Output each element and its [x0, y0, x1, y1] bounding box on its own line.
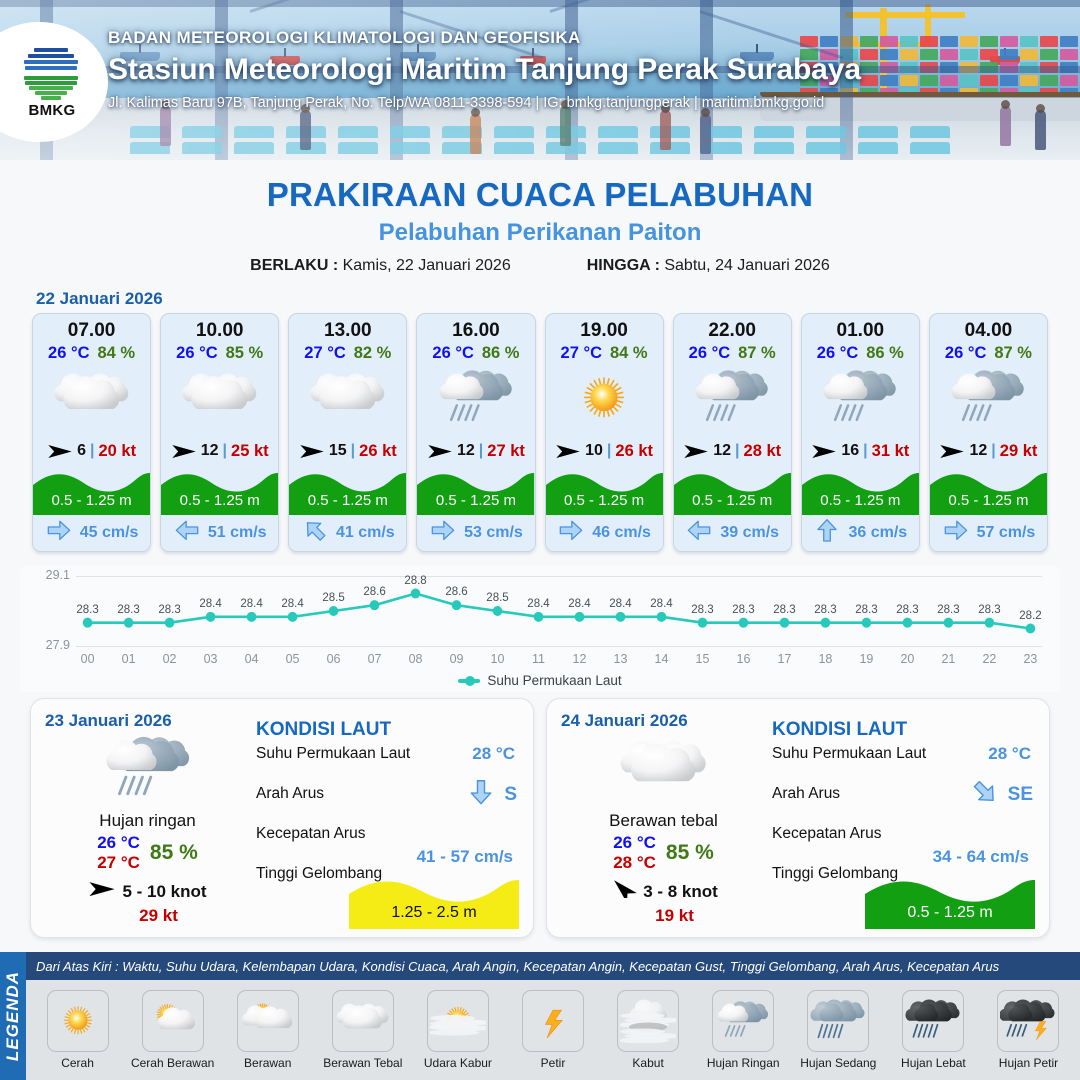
sst-chart: 29.1 27.9 28.328.328.328.428.428.428.528…: [20, 566, 1060, 692]
sst-point-label: 28.6: [445, 586, 467, 598]
title-block: PRAKIRAAN CUACA PELABUHAN Pelabuhan Peri…: [0, 176, 1080, 275]
sea-current-dir-row: Arah ArusS: [256, 781, 519, 821]
sst-x-tick: 20: [900, 652, 914, 666]
sea-current-dir-arrow: [466, 779, 496, 810]
card-current-speed: 36 cm/s: [848, 524, 907, 542]
card-time: 13.00: [289, 314, 406, 342]
current-direction-arrow-N: [813, 518, 841, 543]
weather-icon-hujan-ringan: [692, 367, 772, 431]
card-temperature: 27 °C: [304, 344, 345, 363]
hourly-card[interactable]: 22.0026 °C87 %12|28 kt0.5 - 1.25 m39 cm/…: [673, 313, 792, 552]
daily-left: 24 Januari 2026Berawan tebal26 °C28 °C85…: [561, 711, 766, 927]
card-temp-humidity: 26 °C87 %: [674, 344, 791, 363]
current-direction-arrow-E: [942, 518, 970, 543]
legend-icon-hujan-lebat: [902, 990, 964, 1052]
card-wind-separator: |: [479, 442, 483, 460]
legend-item: Petir: [505, 990, 600, 1070]
legend-icon-kabut: [617, 990, 679, 1052]
legend-item: Hujan Lebat: [886, 990, 981, 1070]
card-current-speed: 41 cm/s: [336, 524, 395, 542]
daily-gust: 29 kt: [45, 906, 250, 926]
card-wind-row: 10|26 kt: [546, 435, 663, 467]
sea-current-speed-label: Kecepatan Arus: [772, 825, 881, 843]
legend-item: Udara Kabur: [410, 990, 505, 1070]
daily-sea-conditions: KONDISI LAUTSuhu Permukaan Laut28 °CArah…: [766, 711, 1035, 927]
card-wind-separator: |: [991, 442, 995, 460]
station-name: Stasiun Meteorologi Maritim Tanjung Pera…: [108, 53, 1048, 87]
daily-temp-col: 26 °C28 °C: [613, 833, 656, 872]
sst-x-tick: 06: [327, 652, 341, 666]
valid-from: BERLAKU : Kamis, 22 Januari 2026: [250, 257, 511, 275]
legend-item-label: Udara Kabur: [424, 1056, 492, 1070]
daily-condition: Berawan tebal: [561, 811, 766, 831]
sea-current-speed-row: Kecepatan Arus34 - 64 cm/s: [772, 821, 1035, 861]
valid-from-value: Kamis, 22 Januari 2026: [343, 257, 511, 274]
sst-x-tick: 13: [614, 652, 628, 666]
card-current-row: 51 cm/s: [161, 515, 278, 551]
card-wind-speed: 12: [201, 442, 219, 460]
card-temp-humidity: 26 °C86 %: [417, 344, 534, 363]
sea-current-dir-wrap: S: [466, 779, 517, 810]
current-direction-arrow-E: [557, 518, 585, 543]
page-header: BMKG BADAN METEOROLOGI KLIMATOLOGI DAN G…: [0, 0, 1080, 160]
card-wave-height: 0.5 - 1.25 m: [930, 467, 1047, 515]
card-wave-height: 0.5 - 1.25 m: [161, 467, 278, 515]
card-wind-row: 6|20 kt: [33, 435, 150, 467]
card-wind-row: 12|28 kt: [674, 435, 791, 467]
logo-green-stripe: [35, 91, 67, 95]
card-wind-separator: |: [735, 442, 739, 460]
card-weather-icon: [674, 363, 791, 435]
legend-item: Cerah: [30, 990, 125, 1070]
sst-point-label: 28.3: [691, 604, 713, 616]
sea-sst-row: Suhu Permukaan Laut28 °C: [772, 741, 1035, 781]
sea-current-speed-row: Kecepatan Arus41 - 57 cm/s: [256, 821, 519, 861]
current-direction-arrow-SE: [970, 779, 1000, 805]
card-wind-arrow: [555, 443, 581, 460]
card-wave-height: 0.5 - 1.25 m: [417, 467, 534, 515]
sst-x-tick: 03: [204, 652, 218, 666]
sst-point-label: 28.3: [76, 604, 98, 616]
wind-direction-arrow-E: [811, 443, 837, 460]
card-humidity: 85 %: [226, 344, 264, 363]
valid-until: HINGGA : Sabtu, 24 Januari 2026: [587, 257, 830, 275]
card-wind-arrow: [939, 443, 965, 460]
legend-item-label: Kabut: [632, 1056, 663, 1070]
current-direction-arrow-W: [173, 518, 201, 543]
sst-x-tick: 12: [573, 652, 587, 666]
card-time: 04.00: [930, 314, 1047, 342]
card-wind-speed: 12: [713, 442, 731, 460]
legend-item-label: Hujan Petir: [999, 1056, 1058, 1070]
daily-wind-speed: 5 - 10 knot: [122, 882, 206, 902]
sst-point-label: 28.4: [568, 598, 590, 610]
weather-icon-berawan-tebal: [180, 367, 260, 431]
card-gust: 31 kt: [872, 442, 910, 461]
sea-current-speed-label: Kecepatan Arus: [256, 825, 365, 843]
sst-point-label: 28.3: [117, 604, 139, 616]
card-time: 22.00: [674, 314, 791, 342]
card-wind-speed: 15: [329, 442, 347, 460]
card-weather-icon: [33, 363, 150, 435]
sst-x-tick: 21: [941, 652, 955, 666]
current-direction-arrow-NW: [301, 518, 329, 543]
logo-blue-stripe: [25, 66, 77, 70]
wind-direction-arrow-NW: [609, 880, 637, 898]
sst-point-label: 28.4: [281, 598, 303, 610]
bmkg-logo-mark: [23, 45, 79, 99]
card-wind-arrow: [427, 443, 453, 460]
card-current-speed: 51 cm/s: [208, 524, 267, 542]
legend-icon-berawan-tebal: [332, 990, 394, 1052]
sea-conditions-title: KONDISI LAUT: [772, 719, 1035, 741]
card-wind-row: 16|31 kt: [802, 435, 919, 467]
wind-direction-arrow-E: [88, 880, 116, 898]
card-wave-text: 0.5 - 1.25 m: [289, 492, 406, 509]
sst-x-tick: 18: [818, 652, 832, 666]
sst-x-tick: 19: [859, 652, 873, 666]
legend-item: Berawan Tebal: [315, 990, 410, 1070]
card-weather-icon: [161, 363, 278, 435]
card-temperature: 26 °C: [48, 344, 89, 363]
card-wave-height: 0.5 - 1.25 m: [802, 467, 919, 515]
bmkg-logo-text: BMKG: [26, 102, 75, 119]
weather-icon-hujan-ringan: [715, 999, 771, 1044]
sst-point-label: 28.4: [609, 598, 631, 610]
card-wave-text: 0.5 - 1.25 m: [674, 492, 791, 509]
daily-humidity: 85 %: [666, 841, 714, 865]
card-temperature: 26 °C: [817, 344, 858, 363]
card-weather-icon: [802, 363, 919, 435]
card-wind-separator: |: [863, 442, 867, 460]
sst-x-tick: 11: [532, 652, 545, 666]
card-temperature: 26 °C: [945, 344, 986, 363]
card-temperature: 26 °C: [689, 344, 730, 363]
sst-point-label: 28.3: [978, 604, 1000, 616]
daily-temp-max: 28 °C: [613, 853, 656, 873]
page-subtitle: Pelabuhan Perikanan Paiton: [0, 219, 1080, 247]
sst-point-label: 28.4: [650, 598, 672, 610]
logo-blue-stripe: [24, 60, 78, 64]
daily-temp-row: 26 °C27 °C85 %: [45, 833, 250, 872]
sst-point-label: 28.6: [363, 586, 385, 598]
card-wind-row: 12|29 kt: [930, 435, 1047, 467]
sea-current-dir-value: SE: [1008, 784, 1033, 806]
card-wind-speed: 12: [969, 442, 987, 460]
card-current-arrow: [429, 518, 457, 548]
sst-x-tick: 23: [1023, 652, 1037, 666]
card-current-row: 36 cm/s: [802, 515, 919, 551]
daily-sea-conditions: KONDISI LAUTSuhu Permukaan Laut28 °CArah…: [250, 711, 519, 927]
wind-direction-arrow-E: [683, 443, 709, 460]
card-weather-icon: [417, 363, 534, 435]
sst-x-tick: 04: [245, 652, 259, 666]
daily-gust: 19 kt: [561, 906, 766, 926]
card-wave-height: 0.5 - 1.25 m: [546, 467, 663, 515]
legend-line-swatch: [458, 679, 480, 683]
card-wind-speed: 16: [841, 442, 859, 460]
daily-date: 24 Januari 2026: [561, 711, 766, 731]
daily-temp-max: 27 °C: [97, 853, 140, 873]
card-wind-speed: 6: [77, 442, 86, 460]
legend-note: Dari Atas Kiri : Waktu, Suhu Udara, Kele…: [26, 952, 1080, 980]
card-gust: 29 kt: [1000, 442, 1038, 461]
card-time: 16.00: [417, 314, 534, 342]
current-direction-arrow-S: [466, 779, 496, 805]
sst-point-label: 28.3: [896, 604, 918, 616]
card-wind-separator: |: [90, 442, 94, 460]
weather-icon-berawan-tebal: [52, 367, 132, 431]
sea-sst-label: Suhu Permukaan Laut: [256, 745, 410, 763]
sst-x-tick: 15: [696, 652, 710, 666]
legend-icon-hujan-ringan: [712, 990, 774, 1052]
sst-x-tick: 00: [81, 652, 95, 666]
hourly-card[interactable]: 16.0026 °C86 %12|27 kt0.5 - 1.25 m53 cm/…: [416, 313, 535, 552]
weather-icon-udara-kabur: [430, 999, 486, 1044]
sea-current-dir-label: Arah Arus: [772, 785, 840, 803]
card-time: 07.00: [33, 314, 150, 342]
sst-point-label: 28.3: [937, 604, 959, 616]
logo-green-stripe: [29, 86, 73, 90]
sst-chart-legend: Suhu Permukaan Laut: [30, 673, 1050, 688]
card-current-row: 46 cm/s: [546, 515, 663, 551]
card-temp-humidity: 26 °C87 %: [930, 344, 1047, 363]
hourly-card[interactable]: 19.0027 °C84 %10|26 kt0.5 - 1.25 m46 cm/…: [545, 313, 664, 552]
station-address: Jl. Kalimas Baru 97B, Tanjung Perak, No.…: [108, 95, 1048, 111]
card-wave-text: 0.5 - 1.25 m: [802, 492, 919, 509]
legend-icon-udara-kabur: [427, 990, 489, 1052]
card-temperature: 26 °C: [176, 344, 217, 363]
daily-forecast-panels: 23 Januari 2026Hujan ringan26 °C27 °C85 …: [0, 692, 1080, 938]
legend-icon-row: CerahCerah BerawanBerawanBerawan TebalUd…: [26, 980, 1080, 1080]
weather-icon-cerah: [50, 999, 106, 1044]
header-text-block: BADAN METEOROLOGI KLIMATOLOGI DAN GEOFIS…: [108, 28, 1048, 111]
hourly-card[interactable]: 01.0026 °C86 %16|31 kt0.5 - 1.25 m36 cm/…: [801, 313, 920, 552]
sea-sst-value: 28 °C: [988, 744, 1031, 764]
card-current-arrow: [45, 518, 73, 548]
sst-point-label: 28.3: [732, 604, 754, 616]
weather-icon-hujan-ringan: [820, 367, 900, 431]
card-humidity: 84 %: [610, 344, 648, 363]
card-current-speed: 46 cm/s: [592, 524, 651, 542]
card-wave-text: 0.5 - 1.25 m: [930, 492, 1047, 509]
sea-current-dir-arrow: [970, 779, 1000, 810]
sst-point-label: 28.5: [486, 592, 508, 604]
daily-wind-row: 3 - 8 knot: [561, 880, 766, 903]
legend-item-label: Cerah Berawan: [131, 1056, 214, 1070]
daily-panel[interactable]: 24 Januari 2026Berawan tebal26 °C28 °C85…: [546, 698, 1050, 938]
daily-left: 23 Januari 2026Hujan ringan26 °C27 °C85 …: [45, 711, 250, 927]
card-wind-row: 12|27 kt: [417, 435, 534, 467]
legend-footer: LEGENDA Dari Atas Kiri : Waktu, Suhu Uda…: [0, 952, 1080, 1080]
sea-wave-badge: 0.5 - 1.25 m: [865, 873, 1035, 929]
card-current-arrow: [685, 518, 713, 548]
card-current-row: 39 cm/s: [674, 515, 791, 551]
card-current-row: 57 cm/s: [930, 515, 1047, 551]
weather-icon-berawan: [240, 999, 296, 1044]
card-wind-separator: |: [351, 442, 355, 460]
y-tick-max: 29.1: [32, 568, 70, 582]
sea-wave-badge: 1.25 - 2.5 m: [349, 873, 519, 929]
sst-point-label: 28.4: [527, 598, 549, 610]
daily-temp-min: 26 °C: [97, 833, 140, 853]
logo-divider: [23, 72, 79, 75]
card-temp-humidity: 26 °C86 %: [802, 344, 919, 363]
legend-icon-hujan-petir: [997, 990, 1059, 1052]
legend-item: Hujan Ringan: [696, 990, 791, 1070]
hourly-card[interactable]: 10.0026 °C85 %12|25 kt0.5 - 1.25 m51 cm/…: [160, 313, 279, 552]
daily-wind-speed: 3 - 8 knot: [643, 882, 718, 902]
card-time: 19.00: [546, 314, 663, 342]
card-current-row: 53 cm/s: [417, 515, 534, 551]
daily-panel[interactable]: 23 Januari 2026Hujan ringan26 °C27 °C85 …: [30, 698, 534, 938]
card-time: 01.00: [802, 314, 919, 342]
legend-item-label: Petir: [541, 1056, 566, 1070]
sea-sst-label: Suhu Permukaan Laut: [772, 745, 926, 763]
weather-icon-kabut: [620, 999, 676, 1044]
sst-point-label: 28.3: [855, 604, 877, 616]
sst-x-tick: 22: [982, 652, 996, 666]
weather-icon-petir: [525, 999, 581, 1044]
card-temp-humidity: 26 °C85 %: [161, 344, 278, 363]
sst-x-tick: 05: [286, 652, 300, 666]
card-humidity: 86 %: [866, 344, 904, 363]
sst-x-axis: 0001020304050607080910111213141516171819…: [76, 649, 1042, 671]
daily-condition: Hujan ringan: [45, 811, 250, 831]
daily-temp-row: 26 °C28 °C85 %: [561, 833, 766, 872]
logo-green-stripe: [24, 76, 78, 80]
legend-body: Dari Atas Kiri : Waktu, Suhu Udara, Kele…: [26, 952, 1080, 1080]
legend-icon-hujan-sedang: [807, 990, 869, 1052]
legend-item: Hujan Sedang: [791, 990, 886, 1070]
legend-item-label: Berawan: [244, 1056, 291, 1070]
card-wind-arrow: [171, 443, 197, 460]
card-time: 10.00: [161, 314, 278, 342]
valid-until-label: HINGGA :: [587, 257, 660, 274]
card-humidity: 87 %: [738, 344, 776, 363]
card-temp-humidity: 26 °C84 %: [33, 344, 150, 363]
logo-green-stripe: [25, 81, 77, 85]
card-temperature: 26 °C: [432, 344, 473, 363]
sea-wave-value: 0.5 - 1.25 m: [865, 904, 1035, 922]
card-current-arrow: [813, 518, 841, 548]
daily-weather-icon: [45, 735, 250, 805]
card-wind-separator: |: [223, 442, 227, 460]
valid-until-value: Sabtu, 24 Januari 2026: [664, 257, 829, 274]
sst-point-label: 28.2: [1019, 610, 1041, 622]
card-humidity: 87 %: [994, 344, 1032, 363]
card-humidity: 82 %: [354, 344, 392, 363]
card-wave-text: 0.5 - 1.25 m: [33, 492, 150, 509]
hourly-card[interactable]: 13.0027 °C82 %15|26 kt0.5 - 1.25 m41 cm/…: [288, 313, 407, 552]
daily-temp-min: 26 °C: [613, 833, 656, 853]
legend-item-label: Hujan Ringan: [707, 1056, 780, 1070]
logo-blue-stripe: [28, 54, 74, 58]
hourly-card[interactable]: 07.0026 °C84 %6|20 kt0.5 - 1.25 m45 cm/s: [32, 313, 151, 552]
sst-point-label: 28.3: [773, 604, 795, 616]
card-wind-arrow: [811, 443, 837, 460]
sst-x-tick: 10: [491, 652, 505, 666]
card-wave-text: 0.5 - 1.25 m: [417, 492, 534, 509]
card-wind-arrow: [299, 443, 325, 460]
legend-side-bar: LEGENDA: [0, 952, 26, 1080]
legend-item: Berawan: [220, 990, 315, 1070]
wind-direction-arrow-E: [939, 443, 965, 460]
sst-point-label: 28.5: [322, 592, 344, 604]
card-current-row: 45 cm/s: [33, 515, 150, 551]
sea-sst-value: 28 °C: [472, 744, 515, 764]
weather-icon-berawan-tebal: [308, 367, 388, 431]
hourly-forecast-cards: 07.0026 °C84 %6|20 kt0.5 - 1.25 m45 cm/s…: [0, 313, 1080, 552]
daily-weather-icon: [561, 735, 766, 805]
weather-icon-cerah: [564, 367, 644, 431]
sst-x-tick: 02: [163, 652, 177, 666]
weather-icon-hujan-ringan: [948, 367, 1028, 431]
logo-blue-stripe: [34, 48, 68, 52]
sst-x-tick: 09: [450, 652, 464, 666]
logo-green-stripe: [41, 96, 61, 100]
daily-wind-arrow: [88, 880, 116, 903]
sst-point-label: 28.8: [404, 575, 426, 587]
validity-row: BERLAKU : Kamis, 22 Januari 2026 HINGGA …: [0, 257, 1080, 275]
card-wind-arrow: [683, 443, 709, 460]
card-temp-humidity: 27 °C82 %: [289, 344, 406, 363]
current-direction-arrow-W: [685, 518, 713, 543]
card-wave-text: 0.5 - 1.25 m: [546, 492, 663, 509]
current-direction-arrow-E: [45, 518, 73, 543]
card-temperature: 27 °C: [561, 344, 602, 363]
legend-item: Kabut: [601, 990, 696, 1070]
legend-item-label: Hujan Sedang: [800, 1056, 876, 1070]
agency-name: BADAN METEOROLOGI KLIMATOLOGI DAN GEOFIS…: [108, 28, 1048, 48]
card-weather-icon: [289, 363, 406, 435]
legend-series-name: Suhu Permukaan Laut: [487, 673, 621, 688]
card-temp-humidity: 27 °C84 %: [546, 344, 663, 363]
forecast-date-label: 22 Januari 2026: [36, 289, 1080, 309]
sst-x-tick: 14: [655, 652, 669, 666]
sea-wave-value: 1.25 - 2.5 m: [349, 904, 519, 922]
sst-x-tick: 08: [409, 652, 423, 666]
current-direction-arrow-E: [429, 518, 457, 543]
wind-direction-arrow-E: [47, 443, 73, 460]
legend-item: Cerah Berawan: [125, 990, 220, 1070]
weather-icon-hujan-sedang: [810, 999, 866, 1044]
card-gust: 28 kt: [744, 442, 782, 461]
card-current-speed: 45 cm/s: [80, 524, 139, 542]
sea-current-dir-label: Arah Arus: [256, 785, 324, 803]
sst-point-label: 28.4: [240, 598, 262, 610]
card-wind-row: 12|25 kt: [161, 435, 278, 467]
sst-x-tick: 07: [368, 652, 382, 666]
weather-icon-berawan-tebal: [335, 999, 391, 1044]
sst-point-label: 28.4: [199, 598, 221, 610]
card-current-arrow: [301, 518, 329, 548]
legend-side-label: LEGENDA: [3, 971, 23, 1061]
hourly-card[interactable]: 04.0026 °C87 %12|29 kt0.5 - 1.25 m57 cm/…: [929, 313, 1048, 552]
card-humidity: 86 %: [482, 344, 520, 363]
card-wind-arrow: [47, 443, 73, 460]
weather-icon-cerah-berawan: [145, 999, 201, 1044]
sea-current-dir-row: Arah ArusSE: [772, 781, 1035, 821]
legend-icon-cerah: [47, 990, 109, 1052]
daily-temp-col: 26 °C27 °C: [97, 833, 140, 872]
weather-icon-hujan-lebat: [905, 999, 961, 1044]
card-current-arrow: [942, 518, 970, 548]
wind-direction-arrow-E: [555, 443, 581, 460]
weather-icon-berawan-tebal: [618, 733, 710, 807]
wind-direction-arrow-E: [171, 443, 197, 460]
legend-item-label: Berawan Tebal: [323, 1056, 402, 1070]
